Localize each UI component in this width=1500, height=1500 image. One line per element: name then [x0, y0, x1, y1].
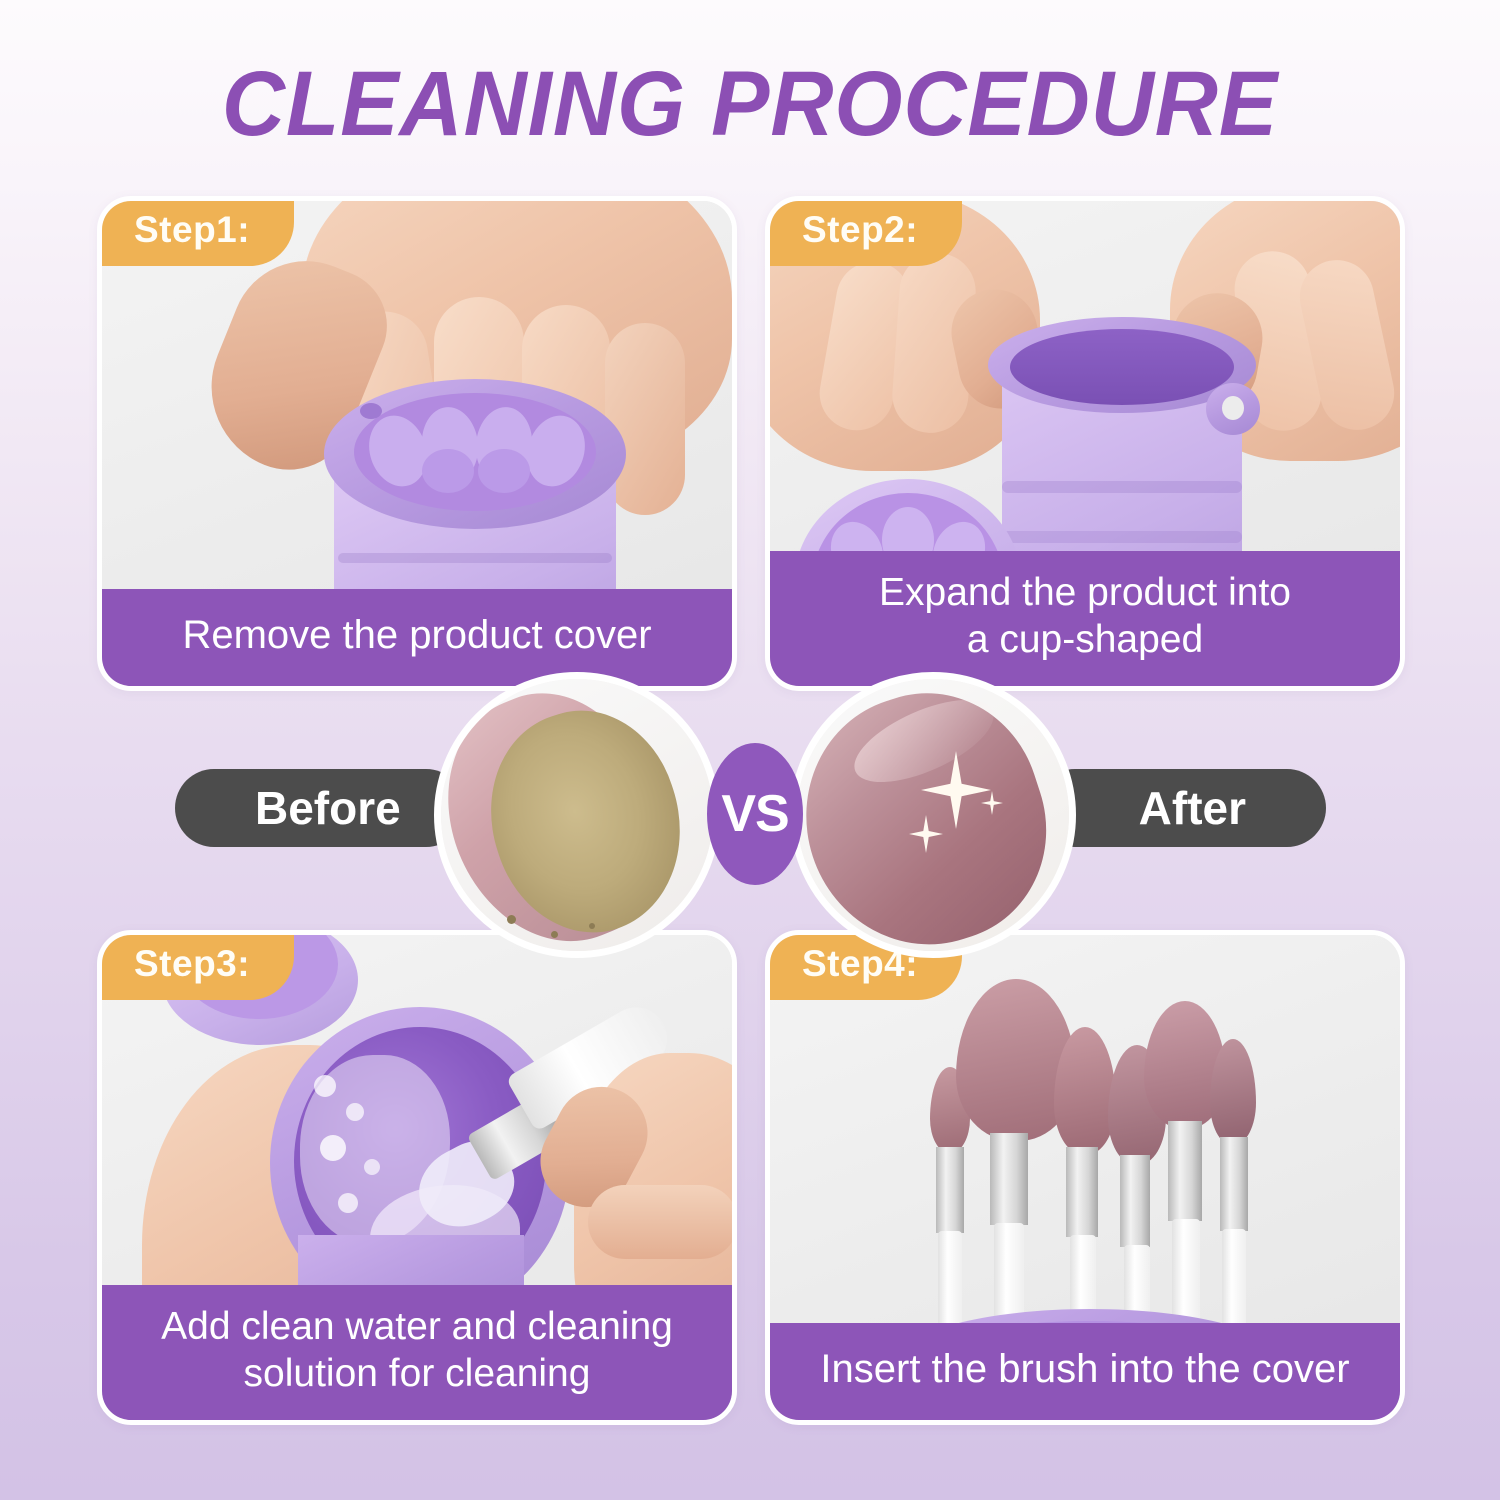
brush-ferrule [1220, 1137, 1248, 1231]
step-4-caption: Insert the brush into the cover [770, 1323, 1400, 1420]
step-2-caption: Expand the product into a cup-shaped [770, 551, 1400, 686]
brush-hand-finger [588, 1185, 732, 1259]
before-label: Before [255, 781, 401, 835]
step-1-badge: Step1: [102, 201, 294, 266]
step-2-caption-line-2: a cup-shaped [796, 616, 1374, 664]
step-card-2: Step2: Expand the product into a cup-sha… [765, 196, 1405, 691]
infographic-page: CLEANING PROCEDURE [0, 0, 1500, 1500]
after-label: After [1139, 781, 1246, 835]
brush-ferrule [1120, 1155, 1150, 1247]
brush-ferrule [990, 1133, 1028, 1225]
brush-ferrule [1066, 1147, 1098, 1237]
step-1-caption: Remove the product cover [102, 589, 732, 686]
cup-fold-2 [1002, 531, 1242, 543]
vs-label: VS [721, 784, 788, 844]
step-2-badge: Step2: [770, 201, 962, 266]
step-3-caption-line-1: Add clean water and cleaning [128, 1303, 706, 1351]
foam-bubble [346, 1103, 364, 1121]
step-3-badge: Step3: [102, 935, 294, 1000]
finger-pinky [605, 323, 685, 515]
powder-speck [507, 915, 516, 924]
after-brush-image [790, 672, 1076, 958]
step-card-1: Step1: Remove the product cover [97, 196, 737, 691]
product-base-ridge [338, 553, 612, 563]
cup-handle-hole [1222, 396, 1244, 420]
foam-bubble [314, 1075, 336, 1097]
vs-badge: VS [707, 743, 803, 885]
step-card-4: Step4: Insert the brush into the cover [765, 930, 1405, 1425]
powder-speck [551, 931, 558, 938]
step-card-3: Step3: Add clean water and cleaning solu… [97, 930, 737, 1425]
step-3-caption: Add clean water and cleaning solution fo… [102, 1285, 732, 1420]
step-3-caption-line-2: solution for cleaning [128, 1350, 706, 1398]
cover-slot [478, 449, 530, 493]
brush-ferrule [936, 1147, 964, 1233]
cover-slot [422, 449, 474, 493]
foam-bubble [320, 1135, 346, 1161]
cup-interior [1010, 329, 1234, 405]
foam-bubble [338, 1193, 358, 1213]
brush-ferrule [1168, 1121, 1202, 1221]
cup-fold-1 [1002, 481, 1242, 493]
cover-vent-hole [360, 403, 382, 419]
page-title: CLEANING PROCEDURE [38, 52, 1463, 157]
powder-speck [589, 923, 595, 929]
step-2-caption-line-1: Expand the product into [796, 569, 1374, 617]
foam-bubble [364, 1159, 380, 1175]
before-brush-image [434, 672, 720, 958]
before-label-pill: Before [175, 769, 465, 847]
after-label-pill: After [1036, 769, 1326, 847]
